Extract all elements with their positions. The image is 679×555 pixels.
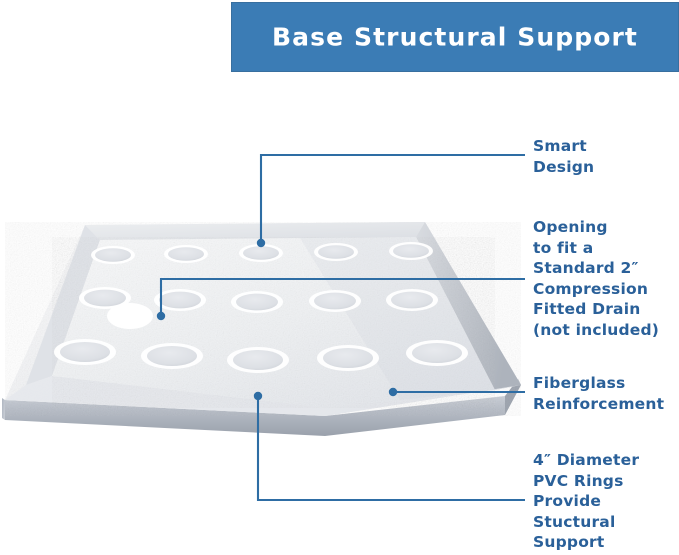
pvc-ring bbox=[386, 289, 438, 311]
pvc-ring bbox=[54, 339, 116, 365]
annotation-fiberglass-reinforcement: Fiberglass Reinforcement bbox=[533, 373, 664, 414]
annotation-pvc-rings: 4″ Diameter PVC Rings Provide Stuctural … bbox=[533, 450, 639, 553]
pvc-ring bbox=[91, 246, 135, 264]
pvc-ring bbox=[389, 242, 433, 260]
shower-base-illustration bbox=[0, 180, 540, 450]
pvc-ring bbox=[314, 243, 358, 261]
product-annotation-diagram: Base Structural Support bbox=[0, 0, 679, 555]
pvc-ring bbox=[239, 244, 283, 262]
product-image bbox=[0, 180, 540, 450]
pvc-ring bbox=[141, 343, 203, 369]
pvc-ring bbox=[406, 340, 468, 366]
header-banner: Base Structural Support bbox=[231, 2, 679, 72]
pvc-ring bbox=[231, 291, 283, 313]
pvc-ring bbox=[154, 289, 206, 311]
base-left-face bbox=[2, 398, 5, 420]
base-back-rim bbox=[85, 222, 425, 240]
annotation-smart-design: Smart Design bbox=[533, 136, 594, 177]
pvc-ring bbox=[227, 347, 289, 373]
page-title: Base Structural Support bbox=[232, 23, 678, 52]
drain-opening bbox=[107, 303, 153, 329]
annotation-drain-opening: Opening to fit a Standard 2″ Compression… bbox=[533, 217, 659, 341]
pvc-ring bbox=[164, 245, 208, 263]
pvc-ring bbox=[317, 345, 379, 371]
pvc-ring bbox=[309, 290, 361, 312]
